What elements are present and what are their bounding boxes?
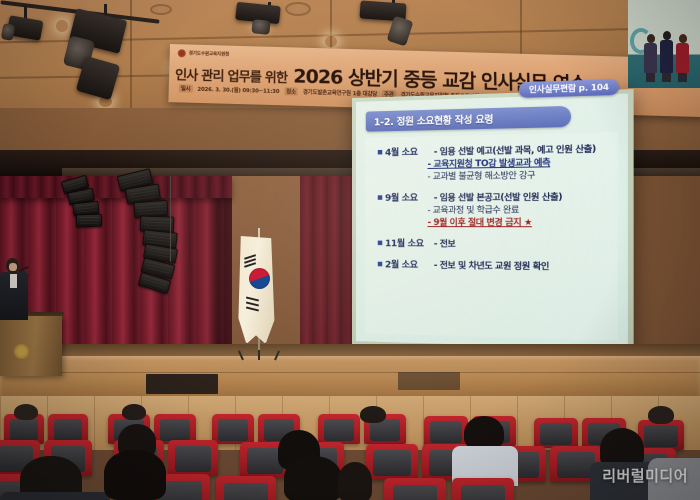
audience-head — [464, 416, 504, 450]
banner-meta-value-1: 경기도발촌교육연구원 1층 대강당 — [303, 88, 377, 98]
audience-head — [360, 406, 386, 423]
bullet-sub-line: - 9월 이후 절대 변경 금지 ★ — [428, 217, 609, 230]
banner-prefix: 인사 관리 업무를 위한 — [175, 64, 287, 86]
audience-head — [14, 404, 38, 420]
logo-mark-icon — [178, 49, 186, 57]
ceiling-downlight — [56, 20, 68, 32]
screen-surface: 1-2. 정원 소요현황 작성 요령 인사실무편람 p. 104 ▪ 4월 소요… — [356, 94, 628, 350]
slide-reference-badge: 인사실무편람 p. 104 — [519, 79, 619, 98]
ceiling-vent-ring — [150, 4, 172, 15]
bullet-first-line: - 전보 및 차년도 교원 정원 확인 — [434, 260, 549, 274]
audience-shoulders — [0, 492, 110, 500]
bullet-dot-icon: ▪ — [377, 259, 383, 270]
slide-title: 1-2. 정원 소요현황 작성 요령 — [374, 111, 493, 128]
slide-bullet-group: ▪ 4월 소요 - 임용 선발 예고(선발 과목, 예고 인원 산출) - 교육… — [377, 143, 609, 184]
stage-light-lens — [251, 19, 270, 35]
podium-emblem-icon — [14, 344, 29, 359]
bullet-dot-icon: ▪ — [377, 147, 383, 158]
ceiling-vent-ring — [285, 2, 311, 16]
slide-bullet-group: ▪ 11월 소요 - 전보 — [377, 238, 609, 252]
korean-flag — [236, 236, 276, 344]
bullet-label: 11월 소요 — [385, 238, 434, 250]
wall-mural — [628, 0, 700, 88]
banner-org-logo: 경기도수원교육지원청 — [178, 49, 230, 58]
stage-panel-line — [0, 372, 700, 373]
stage-front-panel — [0, 356, 700, 400]
slide-bullet-group: ▪ 2월 소요 - 전보 및 차년도 교원 정원 확인 — [377, 259, 609, 274]
flag-stand-base — [242, 350, 276, 360]
speaker-shirt — [10, 274, 17, 288]
auditorium-photo: 경기도수원교육지원청 인사 관리 업무를 위한 2026 상반기 중등 교감 인… — [0, 0, 700, 500]
bullet-label: 9월 소요 — [385, 192, 434, 204]
projection-screen: 1-2. 정원 소요현황 작성 요령 인사실무편람 p. 104 ▪ 4월 소요… — [352, 89, 634, 355]
bullet-first-line: - 임용 선발 본공고(선발 인원 산출) — [434, 191, 562, 204]
mural-figure — [660, 31, 673, 82]
stage-vent — [398, 372, 460, 390]
slide-content: ▪ 4월 소요 - 임용 선발 예고(선발 과목, 예고 인원 산출) - 교육… — [365, 132, 618, 340]
mural-figure — [676, 34, 689, 82]
watermark: 리버럴미디어 — [602, 465, 688, 486]
bullet-sub-line: - 교과별 불균형 해소방안 강구 — [428, 169, 609, 184]
ceiling-downlight — [325, 36, 337, 47]
mural-figure — [644, 34, 657, 82]
bullet-dot-icon: ▪ — [377, 193, 383, 204]
taeguk-symbol-icon — [249, 268, 270, 289]
slide-title-bar: 1-2. 정원 소요현황 작성 요령 — [366, 106, 571, 132]
banner-meta-tag-0: 일시 — [179, 84, 193, 92]
banner-org-name: 경기도수원교육지원청 — [189, 50, 229, 57]
curtain-valance — [0, 176, 232, 198]
stage-vent — [146, 374, 218, 394]
audience-head-foreground — [104, 450, 166, 500]
audience-head-foreground — [338, 462, 372, 500]
audience-head-foreground — [284, 456, 342, 500]
banner-meta-value-0: 2026. 3. 30.(월) 09:30~11:30 — [197, 85, 279, 95]
slide-bullet-group: ▪ 9월 소요 - 임용 선발 본공고(선발 인원 산출) - 교육과정 및 학… — [377, 191, 609, 229]
audience-head — [122, 404, 146, 420]
speaker-person-face — [9, 263, 17, 271]
bullet-label: 2월 소요 — [385, 259, 434, 272]
banner-meta-tag-1: 장소 — [284, 87, 298, 95]
podium — [0, 316, 62, 376]
audience-head — [648, 406, 674, 424]
bullet-label: 4월 소요 — [385, 146, 434, 159]
bullet-dot-icon: ▪ — [377, 238, 383, 249]
bullet-sub-line: - 교육과정 및 학급수 완료 — [428, 204, 609, 217]
bullet-first-line: - 전보 — [434, 238, 456, 250]
slide-badge-label: 인사실무편람 p. 104 — [529, 81, 609, 95]
